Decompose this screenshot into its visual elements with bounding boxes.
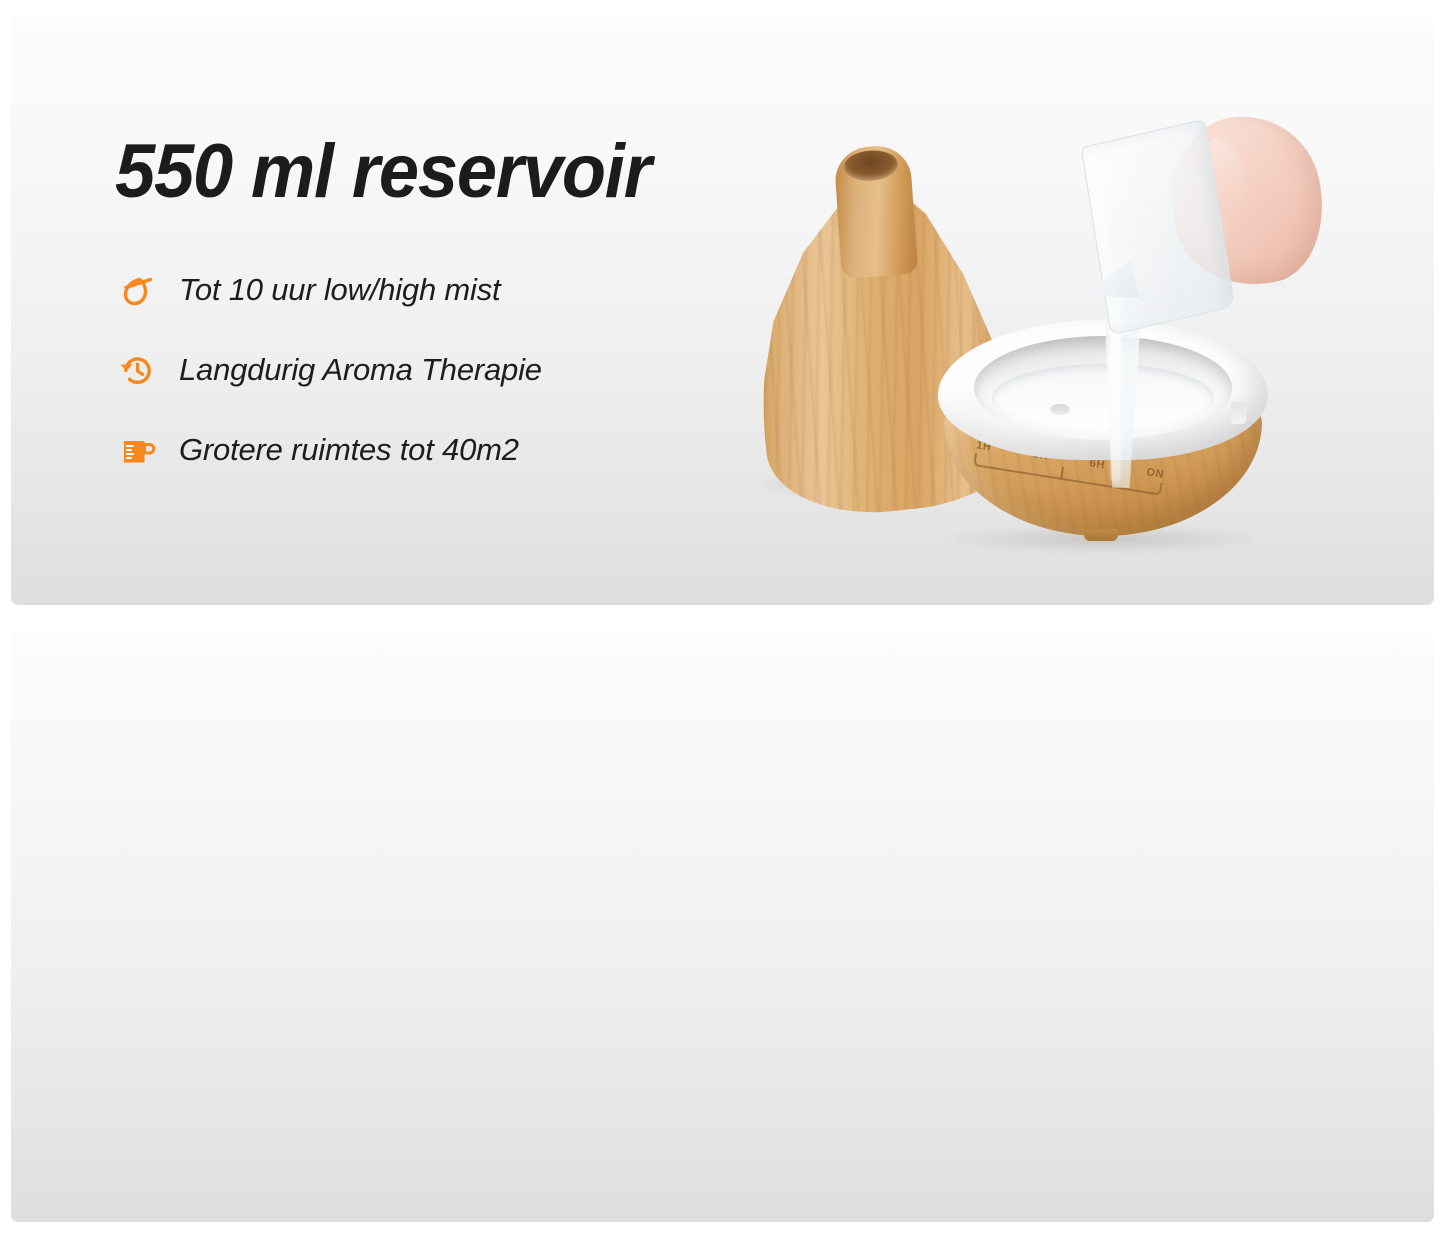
list-item-label: Langdurig Aroma Therapie (179, 353, 542, 387)
reservoir-bullet-list: Tot 10 uur low/high mist Langdurig Aroma… (115, 264, 805, 476)
product-feature-sheet: 550 ml reservoir Tot 10 uur low/high mis… (0, 0, 1445, 1238)
hand-pouring-water (1086, 120, 1306, 390)
list-item-label: Tot 10 uur low/high mist (179, 273, 500, 307)
list-item-label: Grotere ruimtes tot 40m2 (179, 433, 519, 467)
aroma-leaf-icon (115, 268, 159, 312)
reservoir-text-block: 550 ml reservoir Tot 10 uur low/high mis… (115, 134, 805, 476)
bowl-air-vent (1231, 402, 1246, 424)
clock-restore-icon (115, 348, 159, 392)
product-image-diffuser-open: 1H 3H 6H ON (746, 120, 1306, 602)
list-item: Langdurig Aroma Therapie (115, 344, 805, 396)
measuring-jug-icon (115, 428, 159, 472)
page-title: 550 ml reservoir (115, 134, 771, 210)
panel-reservoir: 550 ml reservoir Tot 10 uur low/high mis… (11, 16, 1434, 605)
list-item: Tot 10 uur low/high mist (115, 264, 805, 316)
bowl-sensor-nub (1050, 404, 1070, 415)
bowl-foot (1084, 529, 1118, 541)
list-item: Grotere ruimtes tot 40m2 (115, 424, 805, 476)
timer-label: ON (1146, 466, 1165, 481)
panel-auto-stop: Auto-stop Automatische uitschakeling (11, 633, 1434, 1222)
